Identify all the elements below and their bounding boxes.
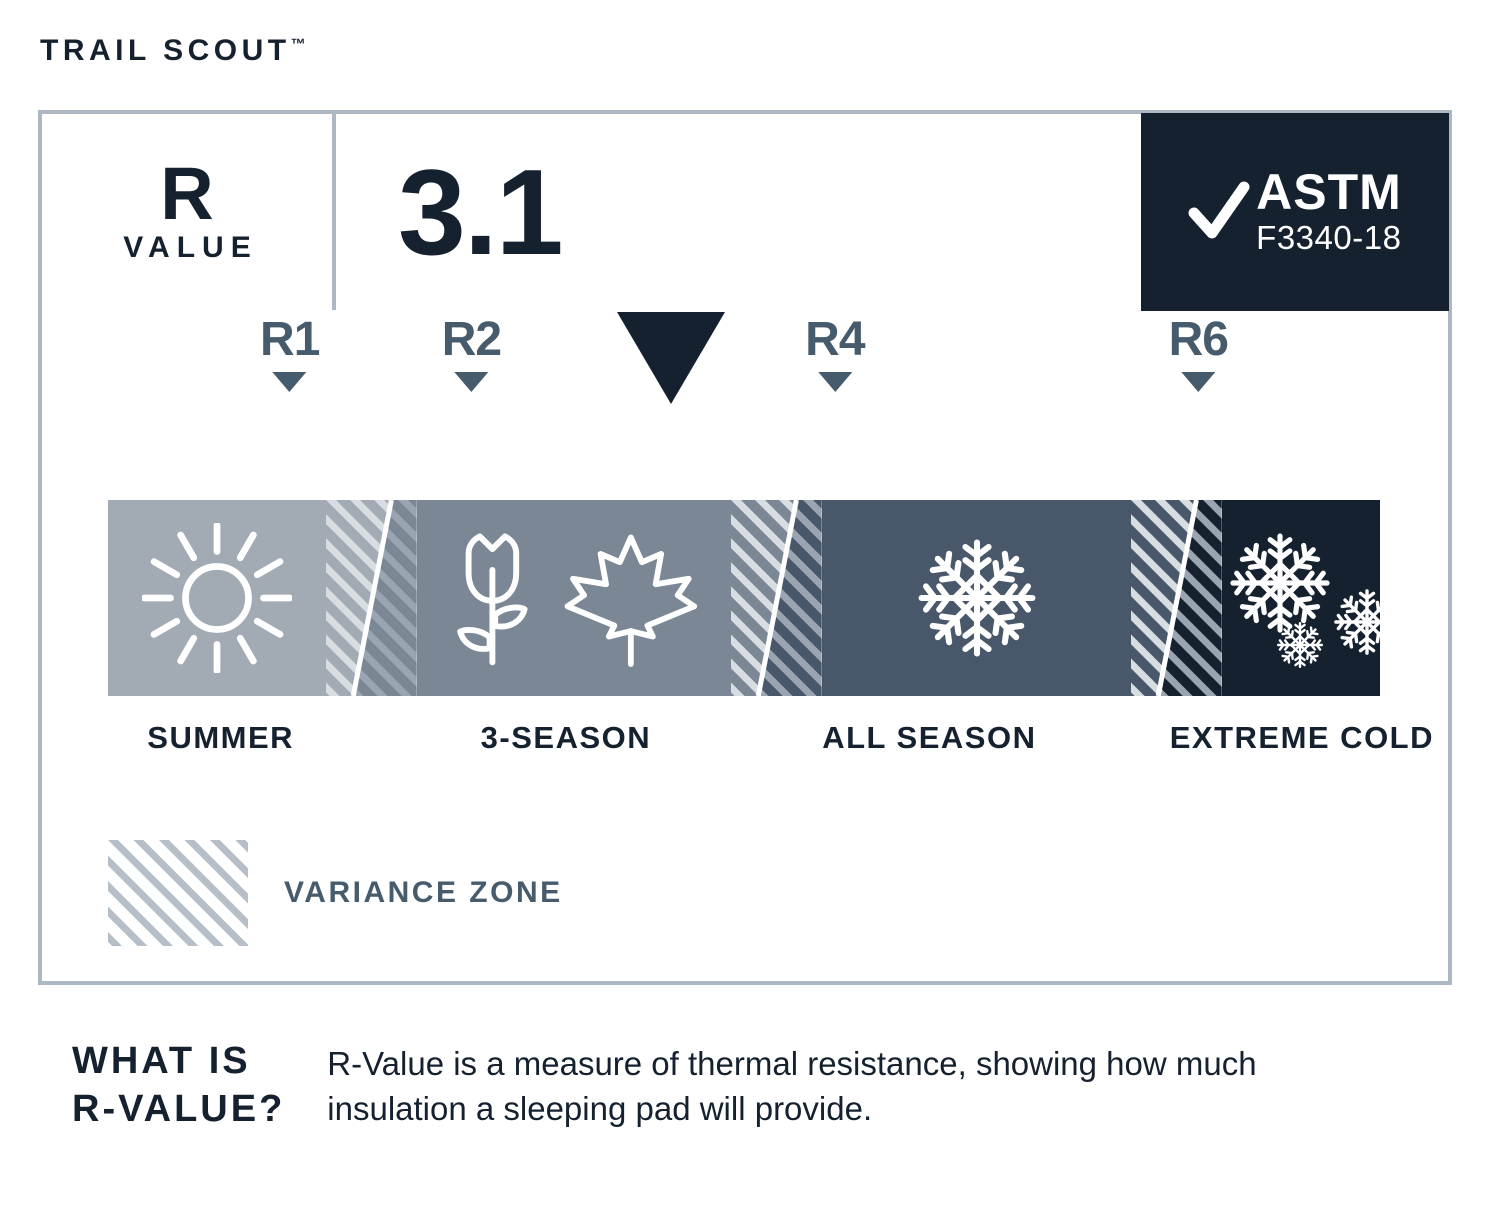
scale-tick-label: R4	[805, 316, 864, 364]
category-label: ALL SEASON	[822, 720, 1036, 756]
chevron-down-icon	[273, 372, 307, 392]
variance-zone-label: VARIANCE ZONE	[284, 876, 563, 910]
brand-title: TRAIL SCOUT™	[40, 36, 306, 66]
brand-name: TRAIL SCOUT	[40, 34, 291, 67]
category-label: EXTREME COLD	[1170, 720, 1434, 756]
scale-tick-r2: R2	[442, 316, 501, 392]
astm-text: ASTM F3340-18	[1256, 167, 1402, 257]
sun-icon	[142, 523, 292, 673]
snowflake-medium-icon	[1330, 585, 1404, 659]
tulip-icon	[449, 528, 536, 668]
season-segment	[108, 500, 326, 696]
current-value-indicator	[617, 312, 725, 404]
scale-tick-label: R6	[1169, 316, 1228, 364]
rvalue-number: 3.1	[398, 151, 562, 273]
astm-spec: F3340-18	[1256, 219, 1401, 257]
snowflake-cluster	[1222, 523, 1380, 673]
diagonal-hatch-swatch	[108, 840, 248, 946]
footer-heading-line2: R-VALUE?	[72, 1086, 285, 1134]
variance-zone-segment	[1131, 500, 1222, 696]
scale-tick-r4: R4	[805, 316, 864, 392]
variance-zone-segment	[326, 500, 417, 696]
rvalue-header-row: R VALUE 3.1 ASTM F3340-18	[42, 114, 1448, 310]
season-segment	[1222, 500, 1380, 696]
astm-standard: ASTM	[1256, 167, 1402, 217]
footer-heading-line1: WHAT IS	[72, 1038, 285, 1086]
explanation-footer: WHAT IS R-VALUE? R-Value is a measure of…	[72, 1038, 1412, 1133]
chevron-down-icon	[818, 372, 852, 392]
variance-zone-segment	[731, 500, 822, 696]
scale-tick-r1: R1	[260, 316, 319, 392]
rvalue-panel: R VALUE 3.1 ASTM F3340-18 R1 R2 R4 R6	[38, 110, 1452, 985]
category-label: SUMMER	[147, 720, 294, 756]
season-segment	[822, 500, 1131, 696]
check-icon	[1188, 177, 1250, 247]
maple-leaf-icon	[562, 527, 700, 669]
trademark-symbol: ™	[291, 36, 306, 53]
rvalue-number-cell: 3.1	[336, 114, 1141, 310]
variance-hatch	[1131, 500, 1222, 696]
season-gradient-bar	[108, 500, 1380, 696]
rvalue-word: VALUE	[116, 231, 257, 265]
variance-hatch	[731, 500, 822, 696]
category-labels: SUMMER3-SEASONALL SEASONEXTREME COLD	[108, 720, 1380, 764]
rvalue-label-cell: R VALUE	[42, 114, 336, 310]
astm-certification-badge: ASTM F3340-18	[1141, 113, 1449, 311]
scale-tick-label: R1	[260, 316, 319, 364]
season-segment	[417, 500, 731, 696]
scale-area: R1 R2 R4 R6	[42, 310, 1448, 981]
footer-body-text: R-Value is a measure of thermal resistan…	[327, 1038, 1257, 1133]
variance-zone-legend: VARIANCE ZONE	[108, 840, 563, 946]
rvalue-letter: R	[160, 159, 213, 229]
snowflake-small-icon	[1274, 619, 1326, 671]
snowflake-icon	[911, 532, 1043, 664]
scale-tick-r6: R6	[1169, 316, 1228, 392]
scale-ticks: R1 R2 R4 R6	[42, 310, 1448, 500]
chevron-down-icon	[454, 372, 488, 392]
variance-hatch	[326, 500, 417, 696]
scale-tick-label: R2	[442, 316, 501, 364]
footer-heading: WHAT IS R-VALUE?	[72, 1038, 285, 1133]
chevron-down-icon	[1181, 372, 1215, 392]
category-label: 3-SEASON	[481, 720, 651, 756]
